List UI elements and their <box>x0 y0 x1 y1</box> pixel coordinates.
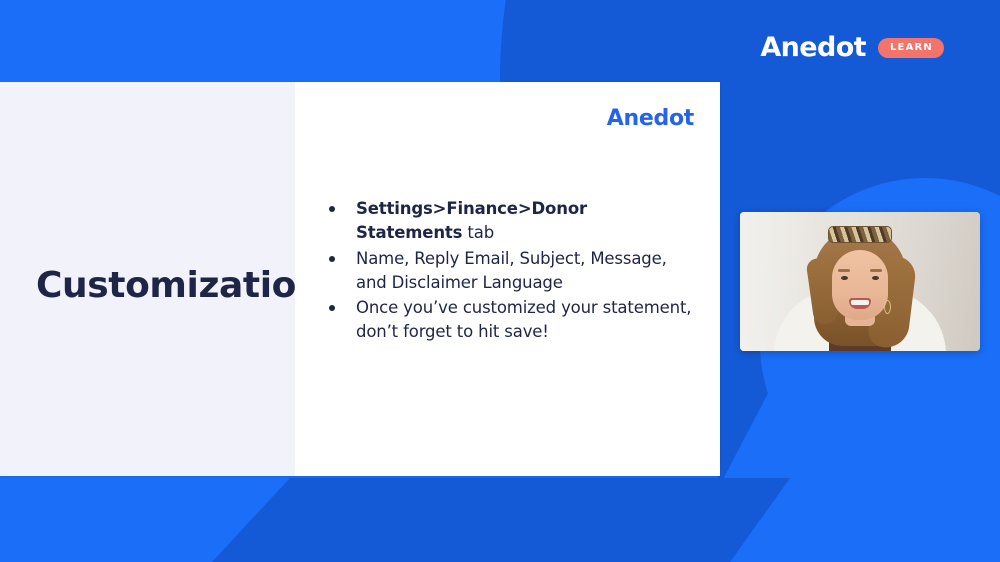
presenter-eye-left <box>841 276 848 280</box>
bullet-text: Name, Reply Email, Subject, Message, and… <box>356 249 667 292</box>
list-item: Settings>Finance>Donor Statements tab <box>323 197 696 246</box>
presenter-eyebrow-right <box>870 269 882 272</box>
slide-content-panel: Anedot Settings>Finance>Donor Statements… <box>295 82 720 476</box>
brand-wordmark: Anedot <box>760 34 866 61</box>
presenter-sunglasses-on-head <box>828 226 892 243</box>
presentation-stage: Anedot LEARN Customization Anedot Settin… <box>0 0 1000 562</box>
presenter-mouth <box>849 298 871 309</box>
list-item: Name, Reply Email, Subject, Message, and… <box>323 247 696 296</box>
slide-canvas[interactable]: Customization Anedot Settings>Finance>Do… <box>0 82 720 476</box>
presenter-eye-right <box>872 276 879 280</box>
anedot-logo: Anedot <box>607 106 694 131</box>
brand-learn-badge: LEARN <box>878 38 944 58</box>
background-bottom-clip <box>0 478 1000 562</box>
bullet-text: Once you’ve customized your statement, d… <box>356 298 691 341</box>
presenter-earring <box>884 300 891 314</box>
presenter-video-feed[interactable] <box>740 212 980 351</box>
bullet-text: tab <box>462 223 494 242</box>
presenter-eyebrow-left <box>838 269 850 272</box>
slide-bullet-list: Settings>Finance>Donor Statements tab Na… <box>323 197 696 346</box>
brand-lockup: Anedot LEARN <box>760 34 944 61</box>
presenter-face <box>832 250 888 320</box>
slide-title: Customization <box>36 266 321 306</box>
list-item: Once you’ve customized your statement, d… <box>323 296 696 345</box>
slide-title-panel: Customization <box>0 82 295 476</box>
